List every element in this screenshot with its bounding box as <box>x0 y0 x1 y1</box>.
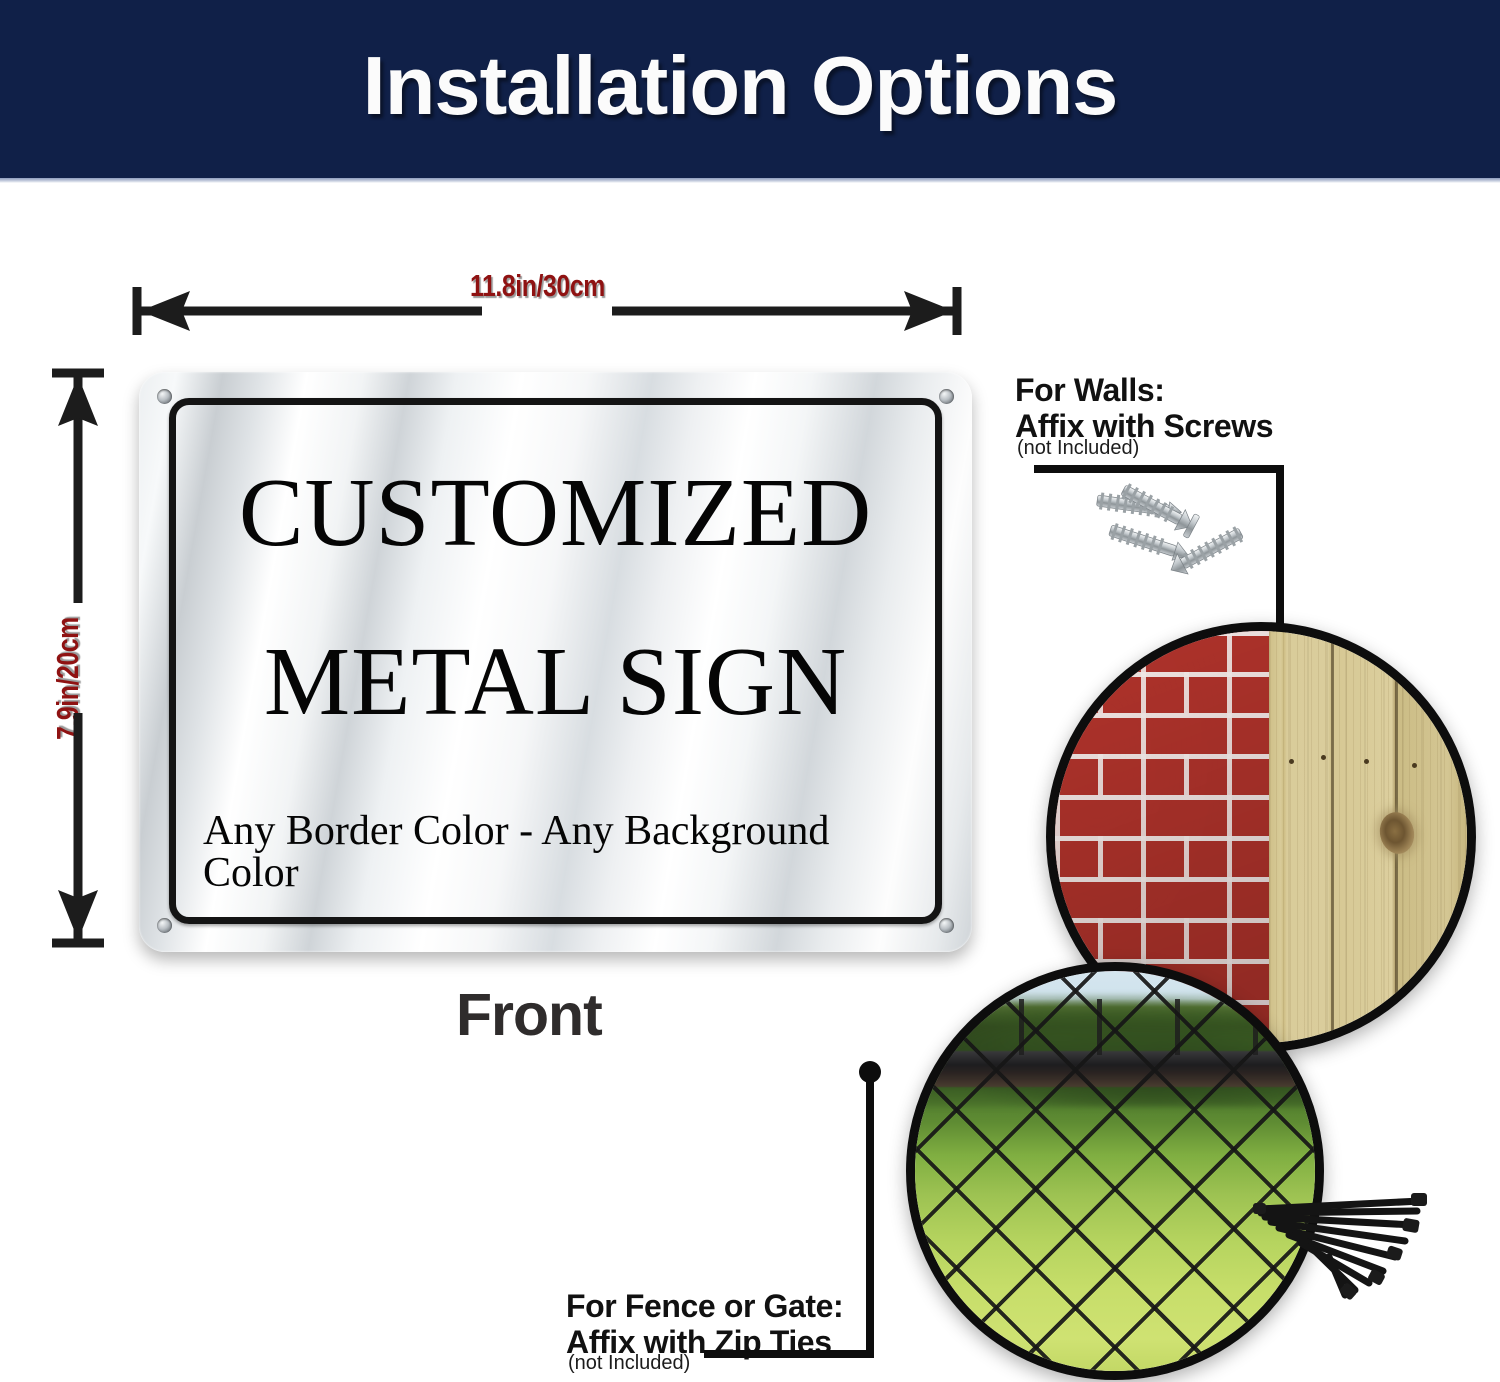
plank-gap <box>1331 631 1334 1043</box>
sign-subtext: Any Border Color - Any Background Color <box>203 810 908 894</box>
screws-icon <box>1088 473 1263 578</box>
sign-text-block: CUSTOMIZED METAL SIGN Any Border Color -… <box>203 428 908 894</box>
chain-link-fence-photo <box>906 962 1324 1380</box>
mounting-hole-icon <box>157 918 172 933</box>
fence-callout-note: (not Included) <box>568 1352 690 1375</box>
walls-callout-note: (not Included) <box>1017 437 1139 460</box>
header-divider <box>0 178 1500 183</box>
sign-headline-2: METAL SIGN <box>264 633 847 730</box>
width-dimension-arrow <box>132 285 962 337</box>
chain-link-mesh <box>906 962 1324 1380</box>
wood-screw-hole <box>1364 759 1369 764</box>
height-dimension-arrow <box>50 368 106 948</box>
wood-screw-hole <box>1321 755 1326 760</box>
header-banner: Installation Options <box>0 0 1500 178</box>
mounting-hole-icon <box>157 389 172 404</box>
mounting-hole-icon <box>939 389 954 404</box>
page-title: Installation Options <box>363 44 1118 127</box>
zip-ties-icon <box>1245 1185 1435 1305</box>
wood-screw-hole <box>1289 759 1294 764</box>
wood-screw-hole <box>1412 763 1417 768</box>
sign-headline-1: CUSTOMIZED <box>239 464 872 561</box>
mounting-hole-icon <box>939 918 954 933</box>
sign-side-caption: Front <box>456 981 602 1049</box>
walls-callout-heading: For Walls: Affix with Screws <box>1015 372 1273 445</box>
metal-sign-preview: CUSTOMIZED METAL SIGN Any Border Color -… <box>139 372 972 952</box>
